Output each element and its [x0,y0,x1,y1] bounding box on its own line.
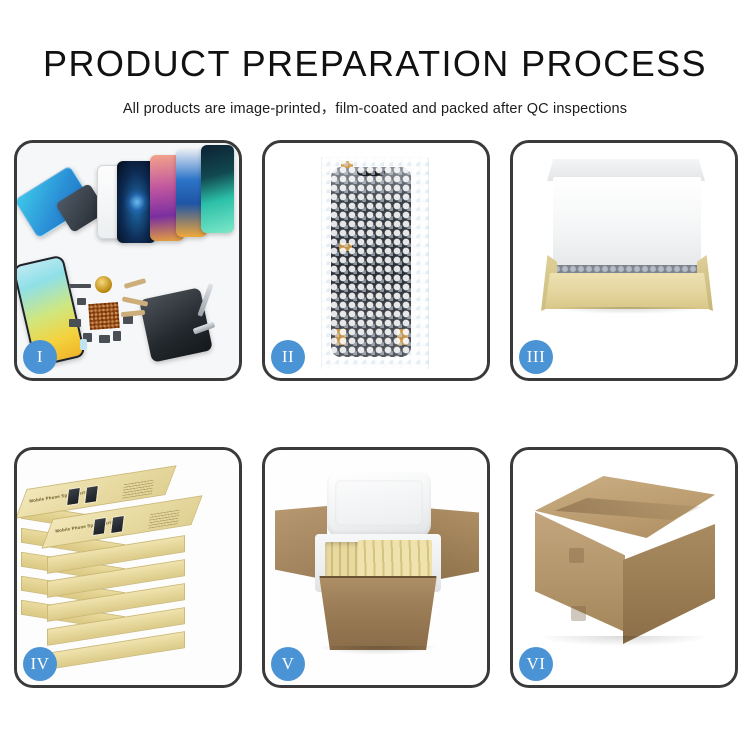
foam-box-lid [327,472,431,536]
box-front-panel [545,273,709,309]
screw-part-a [77,298,86,305]
process-step-panel-6: VI [510,447,738,688]
carton-hand-hole-lower [571,606,586,621]
battery-connector-part [80,339,87,350]
box-label-phone-image-b1 [92,517,107,537]
step-badge-2: II [271,340,305,374]
process-step-panel-5: V [262,447,490,688]
logic-board-part [88,302,120,330]
carton-hand-hole-upper [569,548,584,563]
white-foam-sheet [553,177,701,269]
bubble-highlight-layer [321,157,429,369]
phone-display-teal [201,145,234,233]
process-step-panel-4: Mobile Phone Spare Parts Mobile Phone Sp… [14,447,242,688]
process-step-panel-2: II [262,140,490,381]
bracket-part-d [113,331,121,341]
process-step-panel-1: I [14,140,242,381]
process-step-grid: I II [14,140,738,688]
earpiece-speaker-part [69,284,91,288]
step-1-illustration: I [17,143,239,378]
bracket-part-c [99,335,110,343]
step-badge-3: III [519,340,553,374]
vibration-motor-part [95,276,112,293]
step-badge-1: I [23,340,57,374]
step-3-illustration: III [513,143,735,378]
step-badge-5: V [271,647,305,681]
step-badge-4: IV [23,647,57,681]
carton-body [313,578,443,650]
page-title: PRODUCT PREPARATION PROCESS [0,46,750,82]
page-subtitle: All products are image-printed，film-coat… [0,97,750,118]
box-drop-shadow [553,307,703,314]
step-4-illustration: Mobile Phone Spare Parts Mobile Phone Sp… [17,450,239,685]
step-badge-6: VI [519,647,553,681]
step-6-illustration: VI [513,450,735,685]
product-preparation-infographic: PRODUCT PREPARATION PROCESS All products… [0,0,750,750]
box-label-phone-image-b2 [110,515,125,535]
box-label-phone-image-a1 [66,487,81,507]
process-step-panel-3: III [510,140,738,381]
bracket-part-a [69,319,81,327]
step-2-illustration: II [265,143,487,378]
step-5-illustration: V [265,450,487,685]
carton-drop-shadow [539,636,709,646]
carton-drop-shadow [317,646,439,655]
header: PRODUCT PREPARATION PROCESS All products… [0,0,750,118]
box-label-phone-image-a2 [84,485,99,505]
